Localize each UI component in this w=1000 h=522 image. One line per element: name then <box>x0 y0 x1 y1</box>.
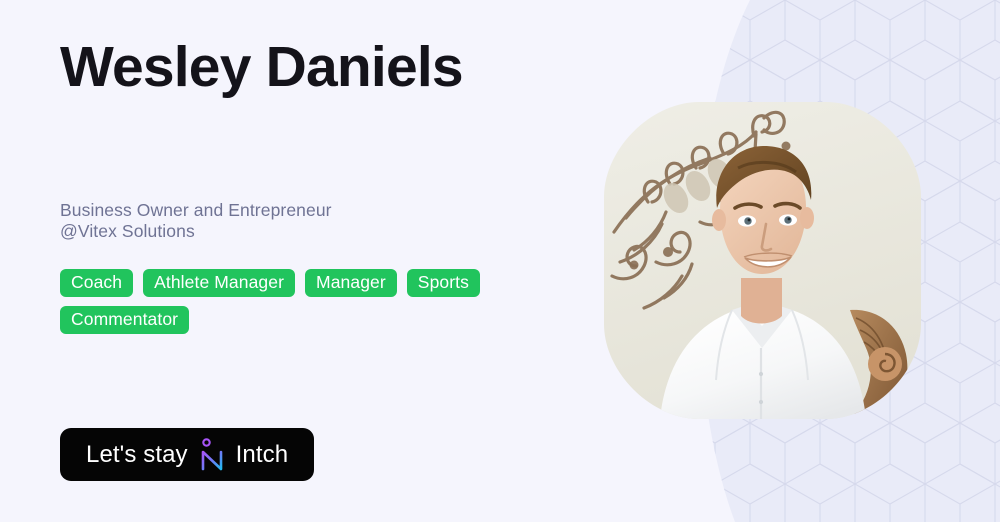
tag-chip[interactable]: Coach <box>60 269 133 297</box>
page-title: Wesley Daniels <box>60 36 463 98</box>
cta-label-after: Intch <box>236 443 289 467</box>
profile-tag-list: Coach Athlete Manager Manager Sports Com… <box>60 269 530 334</box>
lets-stay-intch-button[interactable]: Let's stay Intch <box>60 428 314 481</box>
profile-photo <box>604 102 921 419</box>
tag-chip[interactable]: Manager <box>305 269 397 297</box>
intch-logo-icon <box>197 438 227 472</box>
profile-headline: Business Owner and Entrepreneur @Vitex S… <box>60 200 332 242</box>
profile-card: Wesley Daniels Business Owner and Entrep… <box>0 0 1000 522</box>
tag-chip[interactable]: Commentator <box>60 306 189 334</box>
cta-label-before: Let's stay <box>86 443 188 467</box>
tag-chip[interactable]: Sports <box>407 269 480 297</box>
tag-chip[interactable]: Athlete Manager <box>143 269 295 297</box>
profile-text-column: Wesley Daniels Business Owner and Entrep… <box>60 0 580 522</box>
portrait-illustration <box>604 102 921 419</box>
